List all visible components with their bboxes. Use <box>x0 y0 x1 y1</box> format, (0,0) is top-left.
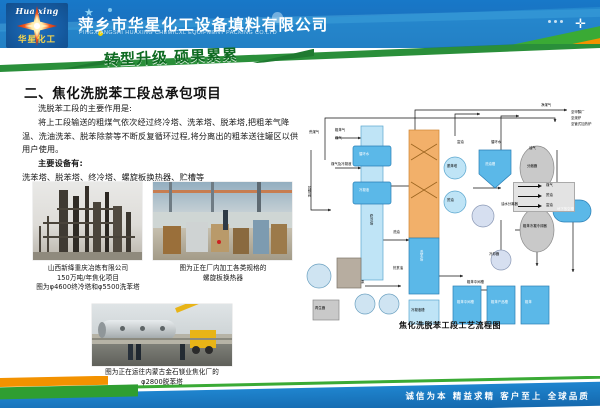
workshop-photo <box>153 182 292 260</box>
label-7: 洗苯塔 <box>419 250 423 290</box>
decor-dot-blue <box>108 8 112 12</box>
tower-site-caption: 山西新绛重庆冶炼有限公司 150万吨/年焦化项目 图为φ4600终冷塔和φ550… <box>20 264 156 293</box>
label-29b: 粗苯中间槽 <box>457 300 474 304</box>
label-2: 煤气 <box>335 136 342 140</box>
paragraph-process: 将上工段输送的粗煤气依次经过终冷塔、洗苯塔、脱苯塔,把粗苯气降温、洗油洗苯、脱苯… <box>22 116 300 156</box>
company-name-en: PINGXIANGSHI HUAXING CHEMICXL EQUIPMENT … <box>79 30 277 36</box>
label-11: 贫油 <box>447 198 454 202</box>
label-9: 洗油槽 <box>485 162 495 166</box>
label-3: 煤气及冷凝液 <box>331 162 351 166</box>
label-27: 冷却器 <box>489 252 499 256</box>
body-text: 洗脱苯工段的主要作用是: 将上工段输送的粗煤气依次经过终冷塔、洗苯塔、脱苯塔,把… <box>22 102 300 186</box>
workshop-caption: 图为正在厂内加工各类规格的 螺旋板换热器 <box>156 264 290 283</box>
label-16: 再生器 <box>315 306 325 310</box>
main-content: 二、焦化洗脱苯工段总承包项目 洗脱苯工段的主要作用是: 将上工段输送的粗煤气依次… <box>0 76 600 376</box>
transport-photo <box>92 304 232 366</box>
label-1: 粗苯气 <box>335 128 345 132</box>
label-18: 地下放空槽 <box>557 207 574 211</box>
label-0: 荒煤气 <box>309 130 319 134</box>
label-4: 循环水 <box>359 152 369 156</box>
paragraph-intro: 洗脱苯工段的主要作用是: <box>22 102 300 115</box>
label-10: 脱苯塔 <box>447 164 457 168</box>
label-24: 热贫油 <box>393 266 403 270</box>
label-22: 分缩器 <box>527 164 537 168</box>
label-5: 冷凝液 <box>359 188 369 192</box>
label-29: 粗苯中间槽 <box>467 280 484 284</box>
process-flow-diagram: 煤气 贫油 富油 净煤气 至甲醇厂 至烧炉 至管式加热炉 荒煤气 粗苯气 煤气 … <box>305 90 595 330</box>
label-21: 油气 <box>529 146 536 150</box>
label-28: 冷凝液槽 <box>411 308 425 312</box>
footer-slogan: 诚信为本 精益求精 客户至上 全球品质 <box>405 390 590 402</box>
label-dest-2: 至管式加热炉 <box>571 122 591 126</box>
label-12: 富油 <box>457 140 464 144</box>
label-dest-1: 至烧炉 <box>571 116 581 120</box>
label-23: 洗油 <box>393 230 400 234</box>
label-26: 泵 <box>361 280 364 284</box>
header-dots <box>548 8 566 27</box>
label-dest-0: 至甲醇厂 <box>571 110 585 114</box>
legend-item-2: 富油 <box>546 203 553 207</box>
tower-site-photo <box>33 182 142 260</box>
brochure-page: Hua xing 华星化工 ★ 萍乡市华星化工设备填料有限公司 PINGXIAN… <box>0 0 600 408</box>
label-17: 油水分离器 <box>501 202 518 206</box>
slogan-ribbon <box>0 44 600 76</box>
diagram-caption: 焦化洗脱苯工段工艺流程图 <box>305 320 595 331</box>
legend-item-0: 煤气 <box>546 183 553 187</box>
label-30: 粗苯产品槽 <box>491 300 508 304</box>
page-header: Hua xing 华星化工 ★ 萍乡市华星化工设备填料有限公司 PINGXIAN… <box>0 0 600 48</box>
equipment-heading: 主要设备有: <box>22 157 300 170</box>
legend-item-1: 贫油 <box>546 193 553 197</box>
label-13: 循环水 <box>491 140 501 144</box>
label-25: 控制阀 <box>307 186 311 240</box>
plus-icon: ✛ <box>575 18 586 31</box>
label-15: 粗苯 <box>525 300 532 304</box>
label-20: 粗苯冷凝冷却器 <box>523 224 547 228</box>
logo-top-text: Hua xing <box>6 6 68 16</box>
label-net-gas: 净煤气 <box>541 103 551 107</box>
label-6: 终冷塔 <box>369 214 373 270</box>
company-logo: Hua xing 华星化工 <box>6 3 68 48</box>
page-footer: 诚信为本 精益求精 客户至上 全球品质 <box>0 376 600 408</box>
page-title: 二、焦化洗脱苯工段总承包项目 <box>24 82 221 102</box>
